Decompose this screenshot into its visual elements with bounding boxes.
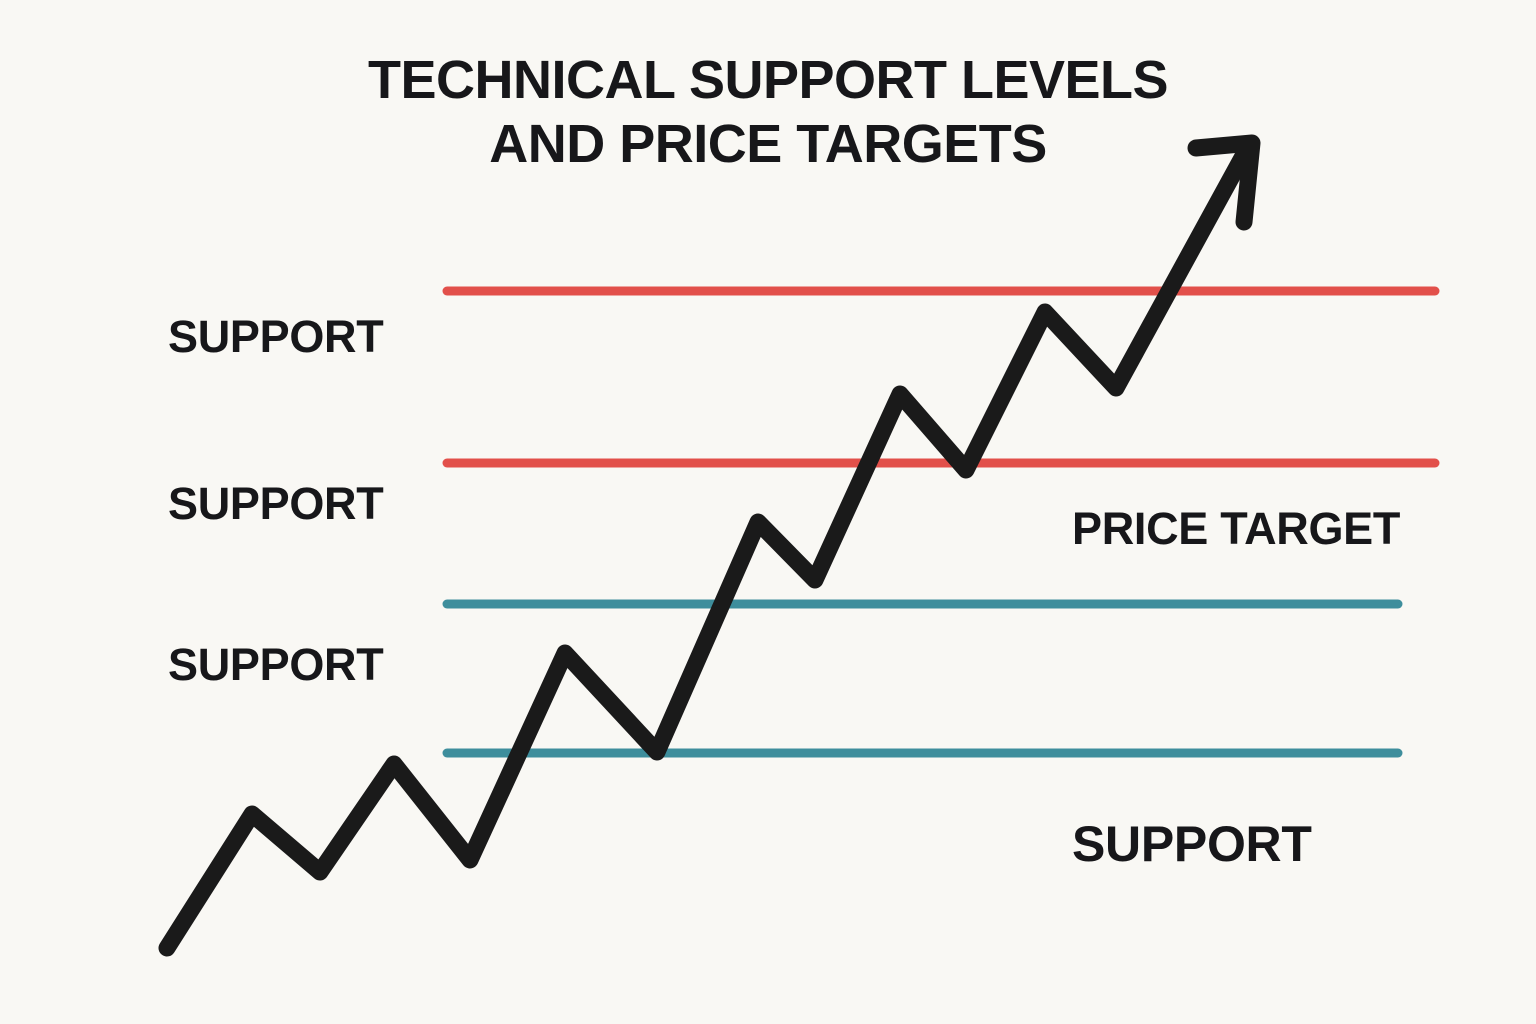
label-support-lower: SUPPORT	[168, 639, 383, 691]
label-support-middle: SUPPORT	[168, 478, 383, 530]
label-support-bottom: SUPPORT	[1072, 815, 1312, 873]
label-price-target: PRICE TARGET	[1072, 503, 1400, 555]
chart-canvas: TECHNICAL SUPPORT LEVELS AND PRICE TARGE…	[0, 0, 1536, 1024]
label-support-top: SUPPORT	[168, 311, 383, 363]
